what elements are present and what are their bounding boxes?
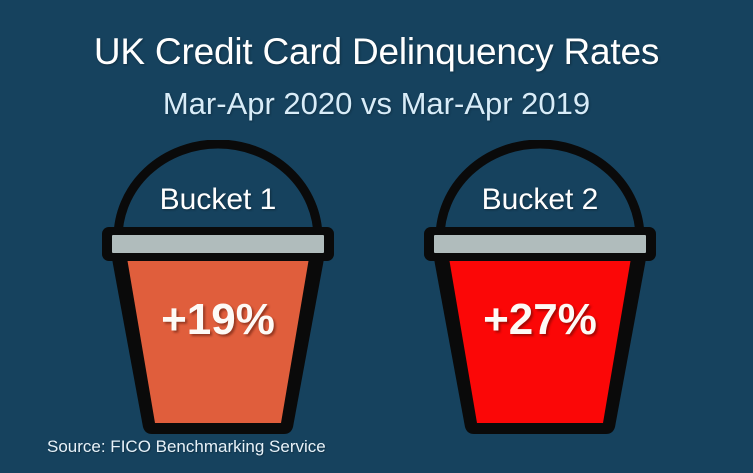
bucket-rim-bar (434, 235, 646, 253)
bucket-label-2: Bucket 2 (410, 182, 670, 218)
source-caption: Source: FICO Benchmarking Service (47, 436, 326, 458)
bucket-rim-bar (112, 235, 324, 253)
bucket-figure-2: Bucket 2 +27% (410, 140, 670, 435)
bucket-label-1: Bucket 1 (88, 182, 348, 218)
page-title: UK Credit Card Delinquency Rates (0, 30, 753, 74)
bucket-value-1: +19% (88, 295, 348, 345)
infographic-canvas: UK Credit Card Delinquency Rates Mar-Apr… (0, 0, 753, 473)
page-subtitle: Mar-Apr 2020 vs Mar-Apr 2019 (0, 85, 753, 123)
bucket-value-2: +27% (410, 295, 670, 345)
bucket-figure-1: Bucket 1 +19% (88, 140, 348, 435)
